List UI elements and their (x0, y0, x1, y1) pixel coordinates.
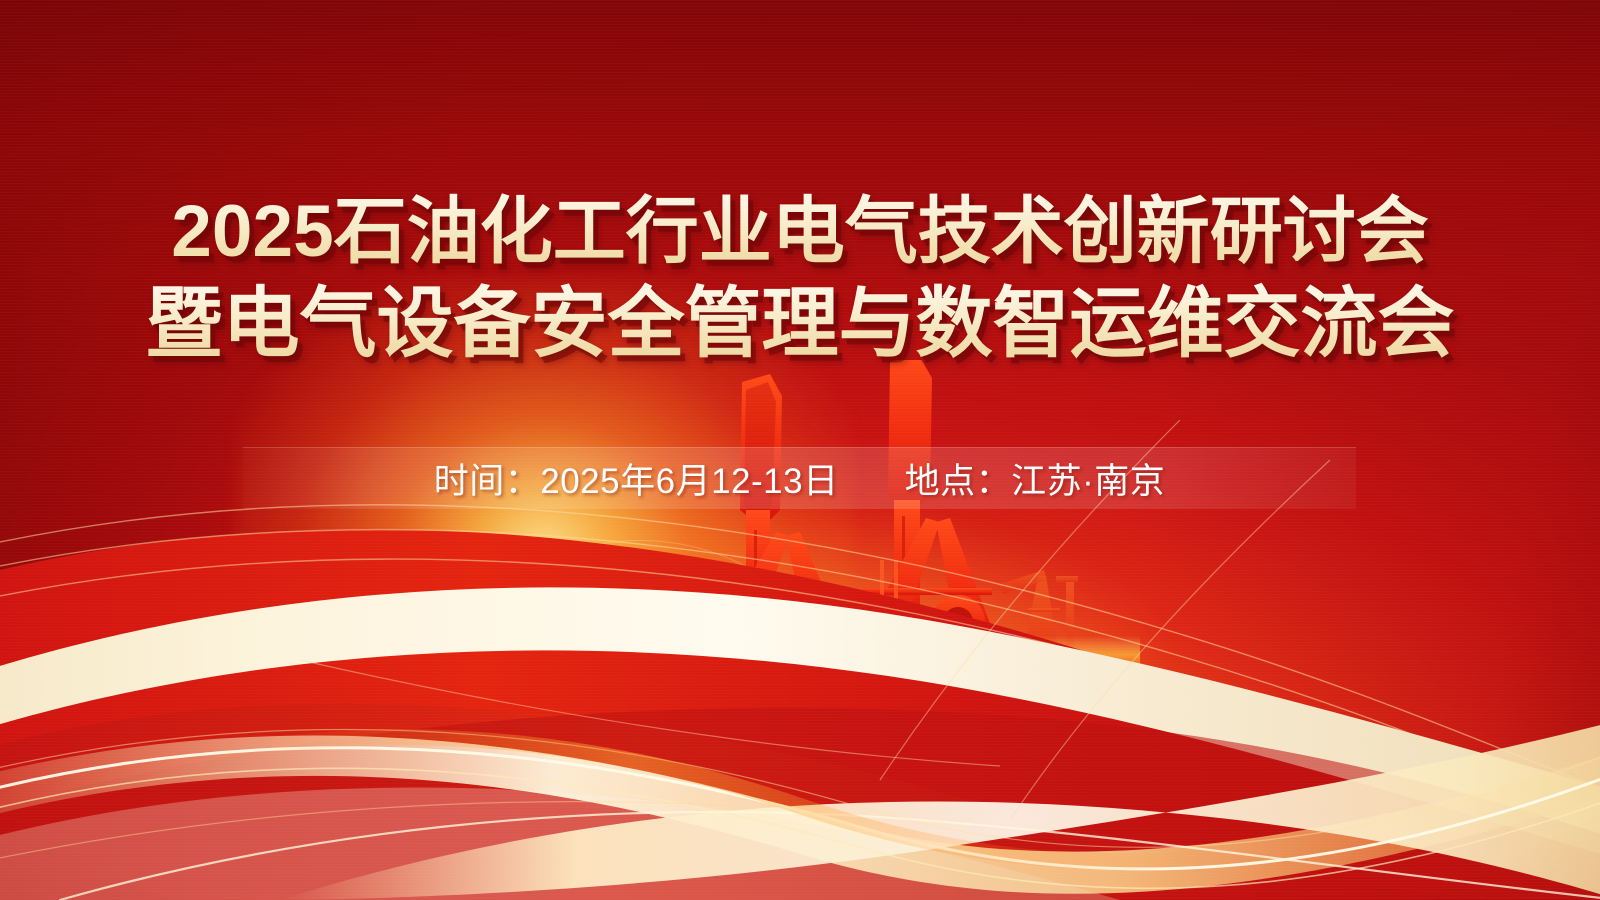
conference-banner: 2025石油化工行业电气技术创新研讨会 暨电气设备安全管理与数智运维交流会 时间… (0, 0, 1600, 900)
time-value: 2025年6月12-13日 (540, 453, 838, 504)
time-label: 时间： (434, 453, 541, 504)
event-info-bar: 时间： 2025年6月12-13日 地点： 江苏·南京 (243, 447, 1356, 509)
event-info-text: 时间： 2025年6月12-13日 地点： 江苏·南京 (434, 453, 1166, 504)
location-label: 地点： (905, 453, 1012, 504)
location-value: 江苏·南京 (1011, 453, 1165, 504)
